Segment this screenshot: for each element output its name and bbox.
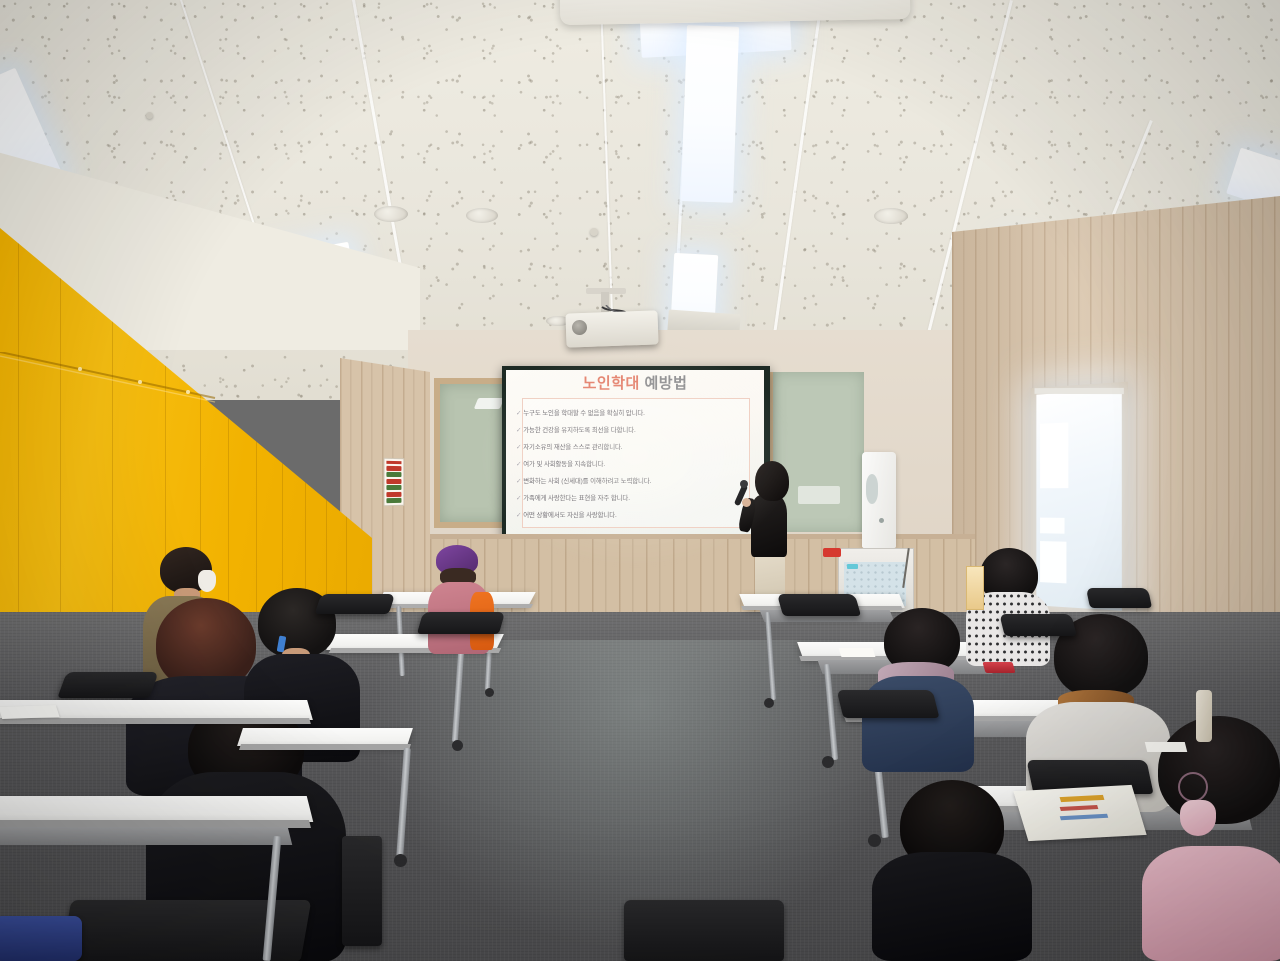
slide-bullet: ✓가능한 건강을 유지하도록 최선을 다합니다.	[516, 425, 636, 434]
slide-bullet-text: 여가 및 사회활동을 지속합니다.	[523, 461, 605, 468]
ac-vent-icon	[866, 474, 878, 504]
slide-bullet-text: 자기소유의 재산을 스스로 관리합니다.	[523, 444, 622, 451]
presenter-hair	[755, 461, 789, 501]
slide-bullet-text: 가능한 건강을 유지하도록 최선을 다합니다.	[523, 427, 635, 434]
table-caster	[394, 854, 407, 867]
ceiling-speaker	[374, 206, 408, 222]
check-icon: ✓	[516, 461, 521, 468]
sprinkler-head	[146, 112, 153, 119]
water-bottle[interactable]	[1196, 690, 1212, 742]
blind-light-patch	[1040, 541, 1066, 583]
table-caster	[452, 740, 463, 751]
chair[interactable]	[315, 594, 395, 614]
board-glare	[798, 486, 840, 504]
person-torso	[1142, 846, 1280, 961]
paper-sheet[interactable]	[839, 648, 876, 657]
blind-light-patch	[1040, 422, 1068, 488]
table-caster	[822, 756, 834, 768]
blind-light-patch	[1040, 518, 1064, 534]
classroom-photo: 노인학대 예방법 ✓누구도 노인을 학대할 수 없음을 확실히 압니다. ✓가능…	[0, 0, 1280, 961]
projected-slide: 노인학대 예방법 ✓누구도 노인을 학대할 수 없음을 확실히 압니다. ✓가능…	[506, 370, 764, 534]
paper-sheet[interactable]	[1145, 742, 1187, 752]
chair[interactable]	[777, 594, 861, 616]
paper-sheet[interactable]	[0, 705, 60, 719]
face-mask	[1180, 800, 1216, 836]
sprinkler-head	[590, 228, 598, 236]
slide-bullet: ✓누구도 노인을 학대할 수 없음을 확실히 압니다.	[516, 408, 645, 417]
chair-blue[interactable]	[0, 916, 82, 961]
table-row	[0, 796, 313, 822]
table-caster	[485, 688, 494, 697]
poster-header-bar	[386, 461, 401, 464]
blind-top-rail[interactable]	[1035, 388, 1124, 394]
person-hair	[1158, 716, 1280, 824]
poster-bar	[386, 472, 401, 477]
presenter-torso	[751, 495, 787, 557]
person-torso	[872, 852, 1032, 961]
table-edge	[0, 718, 311, 724]
slide-bullet-text: 가족에게 사랑한다는 표현을 자주 합니다.	[523, 495, 630, 502]
face-mask	[198, 570, 216, 592]
poster-bar	[386, 479, 401, 484]
window-roller-blind[interactable]	[1036, 389, 1121, 611]
slide-title: 노인학대 예방법	[506, 376, 764, 393]
yellow-standee	[966, 566, 984, 610]
slide-bullet: ✓여가 및 사회활동을 지속합니다.	[516, 459, 605, 468]
presenter-hand	[742, 498, 751, 507]
red-desk-object	[823, 548, 841, 557]
chair[interactable]	[999, 614, 1076, 636]
safety-notice-poster	[384, 458, 405, 507]
slide-title-secondary: 예방법	[640, 375, 688, 392]
slide-bullet: ✓자기소유의 재산을 스스로 관리합니다.	[516, 442, 622, 451]
table-apron	[0, 827, 292, 845]
chair[interactable]	[342, 836, 382, 946]
ceiling-light-panel	[681, 25, 739, 203]
table-edge	[239, 744, 411, 750]
chair[interactable]	[1086, 588, 1152, 608]
poster-bar	[386, 466, 401, 471]
slide-bullet-text: 어떤 상황에서도 자신을 사랑합니다.	[523, 512, 616, 519]
table-caster	[868, 834, 881, 847]
check-icon: ✓	[516, 495, 521, 502]
microphone-head-icon	[740, 480, 748, 488]
slide-title-primary: 노인학대	[583, 375, 640, 392]
chair[interactable]	[624, 900, 784, 961]
poster-bar	[386, 491, 401, 496]
chair[interactable]	[837, 690, 940, 718]
check-icon: ✓	[516, 410, 521, 417]
poster-bar	[386, 498, 401, 503]
check-icon: ✓	[516, 427, 521, 434]
ceiling-speaker	[466, 208, 498, 223]
slide-bullet: ✓가족에게 사랑한다는 표현을 자주 합니다.	[516, 493, 630, 502]
poster-bar	[386, 485, 401, 490]
check-icon: ✓	[516, 478, 521, 485]
check-icon: ✓	[516, 512, 521, 519]
ceiling-speaker	[874, 208, 908, 224]
slide-bullet: ✓어떤 상황에서도 자신을 사랑합니다.	[516, 510, 617, 519]
chair[interactable]	[417, 612, 505, 634]
slide-bullet: ✓변화하는 사회 (신세대)를 이해하려고 노력합니다.	[516, 476, 651, 485]
eyeglasses-icon	[1178, 772, 1208, 802]
board-glare	[474, 398, 504, 409]
chair[interactable]	[57, 672, 158, 698]
podium-display	[847, 564, 858, 569]
table-caster	[764, 698, 774, 708]
red-phone[interactable]	[982, 662, 1015, 673]
slide-bullet-text: 변화하는 사회 (신세대)를 이해하려고 노력합니다.	[523, 478, 651, 485]
slide-bullet-text: 누구도 노인을 학대할 수 없음을 확실히 압니다.	[523, 410, 645, 417]
brochure[interactable]	[1013, 785, 1146, 841]
ac-power-button[interactable]	[879, 518, 884, 523]
check-icon: ✓	[516, 444, 521, 451]
